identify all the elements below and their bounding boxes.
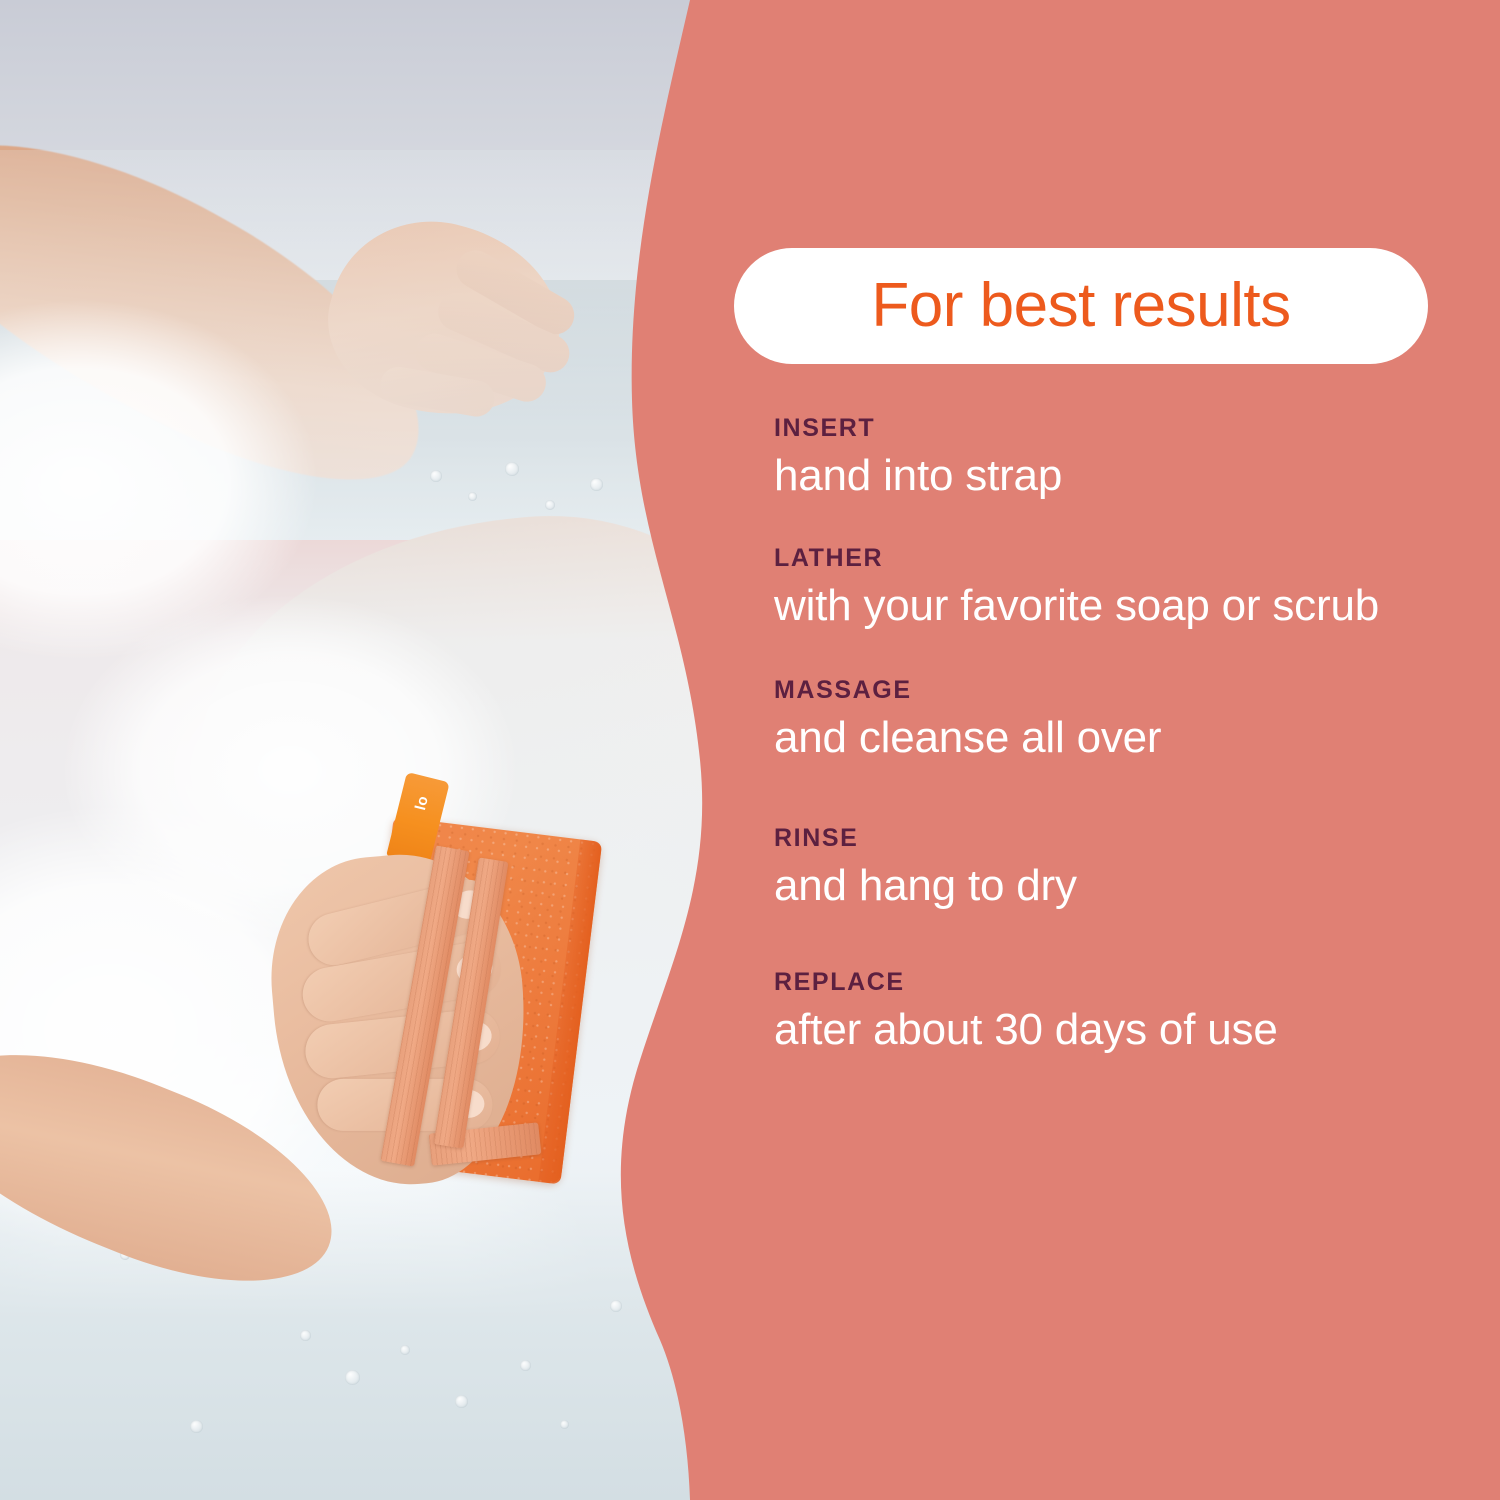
bubble — [455, 1395, 468, 1408]
bubble — [560, 1420, 569, 1429]
bubble — [345, 1370, 360, 1385]
step-lather: LATHER with your favorite soap or scrub — [774, 546, 1474, 632]
step-text-replace: after about 30 days of use — [774, 1004, 1474, 1056]
instructions-panel: For best results INSERT hand into strap … — [700, 0, 1500, 1500]
step-insert: INSERT hand into strap — [774, 416, 1474, 502]
step-label-massage: MASSAGE — [774, 678, 1474, 703]
bubble — [468, 492, 477, 501]
lifestyle-photo-collage: lo — [0, 0, 760, 1500]
step-text-insert: hand into strap — [774, 450, 1474, 502]
step-text-rinse: and hang to dry — [774, 860, 1474, 912]
step-text-lather: with your favorite soap or scrub — [774, 580, 1474, 632]
bubble — [400, 1345, 410, 1355]
title-pill: For best results — [734, 248, 1428, 364]
step-label-rinse: RINSE — [774, 826, 1474, 851]
bubble — [610, 1300, 622, 1312]
step-replace: REPLACE after about 30 days of use — [774, 970, 1474, 1056]
product-instructions-infographic: lo — [0, 0, 1500, 1500]
step-label-lather: LATHER — [774, 546, 1474, 571]
bubble — [430, 470, 442, 482]
bubble — [300, 1330, 311, 1341]
step-label-insert: INSERT — [774, 416, 1474, 441]
step-massage: MASSAGE and cleanse all over — [774, 678, 1474, 764]
step-label-replace: REPLACE — [774, 970, 1474, 995]
page-title: For best results — [871, 275, 1290, 337]
bubble — [545, 500, 555, 510]
step-text-massage: and cleanse all over — [774, 712, 1474, 764]
bubble — [505, 462, 519, 476]
step-rinse: RINSE and hang to dry — [774, 826, 1474, 912]
bubble — [590, 478, 603, 491]
bubble — [520, 1360, 531, 1371]
bubble — [190, 1420, 203, 1433]
steps-list: INSERT hand into strap LATHER with your … — [774, 416, 1474, 1056]
brand-logo-text: lo — [412, 794, 432, 812]
